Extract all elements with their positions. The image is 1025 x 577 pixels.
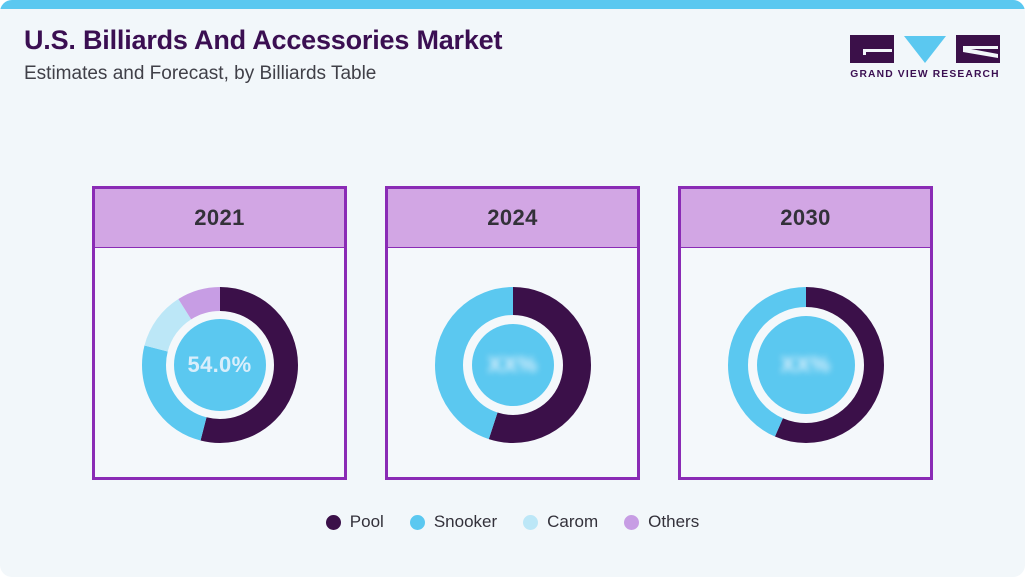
card-year-label: 2024 — [487, 205, 538, 231]
donut-center-disc — [757, 316, 855, 414]
legend-swatch-icon — [326, 515, 341, 530]
donut-card-2024: 2024 XX% — [385, 186, 640, 480]
legend-swatch-icon — [410, 515, 425, 530]
donut-chart-2030: XX% — [716, 275, 896, 455]
legend-swatch-icon — [523, 515, 538, 530]
legend-swatch-icon — [624, 515, 639, 530]
legend-label: Others — [648, 512, 699, 532]
legend-label: Carom — [547, 512, 598, 532]
donut-center-disc — [472, 324, 554, 406]
legend-label: Snooker — [434, 512, 497, 532]
card-header-2021: 2021 — [95, 189, 344, 248]
card-header-2030: 2030 — [681, 189, 930, 248]
legend-item-snooker: Snooker — [410, 512, 497, 532]
donut-card-2021: 2021 54.0% — [92, 186, 347, 480]
donut-card-2030: 2030 XX% — [678, 186, 933, 480]
donut-svg-2021 — [130, 275, 310, 455]
chart-legend: Pool Snooker Carom Others — [0, 505, 1025, 539]
card-body-2030: XX% — [681, 248, 930, 481]
card-body-2024: XX% — [388, 248, 637, 481]
donut-svg-2024 — [423, 275, 603, 455]
legend-item-pool: Pool — [326, 512, 384, 532]
card-header-2024: 2024 — [388, 189, 637, 248]
infographic-frame: U.S. Billiards And Accessories Market Es… — [0, 0, 1025, 577]
donut-chart-2024: XX% — [423, 275, 603, 455]
card-body-2021: 54.0% — [95, 248, 344, 481]
donut-center-disc — [174, 319, 266, 411]
donut-card-group: 2021 54.0% — [0, 0, 1025, 577]
donut-svg-2030 — [716, 275, 896, 455]
legend-item-others: Others — [624, 512, 699, 532]
legend-item-carom: Carom — [523, 512, 598, 532]
donut-chart-2021: 54.0% — [130, 275, 310, 455]
card-year-label: 2030 — [780, 205, 831, 231]
card-year-label: 2021 — [194, 205, 245, 231]
legend-label: Pool — [350, 512, 384, 532]
